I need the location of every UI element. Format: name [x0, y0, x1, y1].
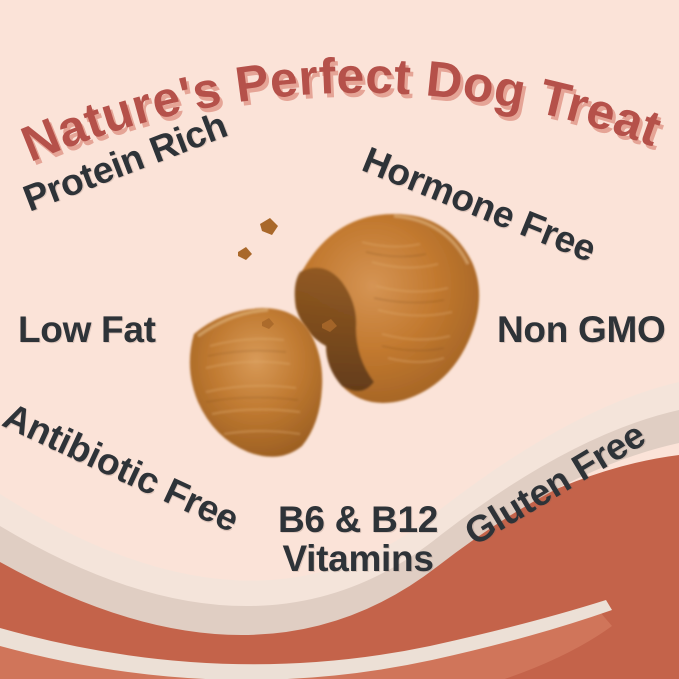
band-arrow-highlight — [0, 600, 612, 679]
product-feature-poster: Nature's Perfect Dog Treat Nature's Perf… — [0, 0, 679, 679]
feature-label-vitamins: B6 & B12 Vitamins — [278, 500, 438, 578]
feature-label-vitamins-line1: B6 & B12 — [278, 500, 438, 539]
feature-label-non-gmo: Non GMO — [497, 310, 665, 349]
product-image — [176, 206, 488, 466]
band-arrow-accent — [0, 612, 612, 679]
feature-label-low-fat: Low Fat — [18, 310, 156, 349]
treat-piece-lower — [190, 308, 322, 457]
treat-piece-upper — [295, 214, 479, 403]
broken-dog-treat-icon — [176, 206, 488, 466]
feature-label-vitamins-line2: Vitamins — [278, 539, 438, 578]
